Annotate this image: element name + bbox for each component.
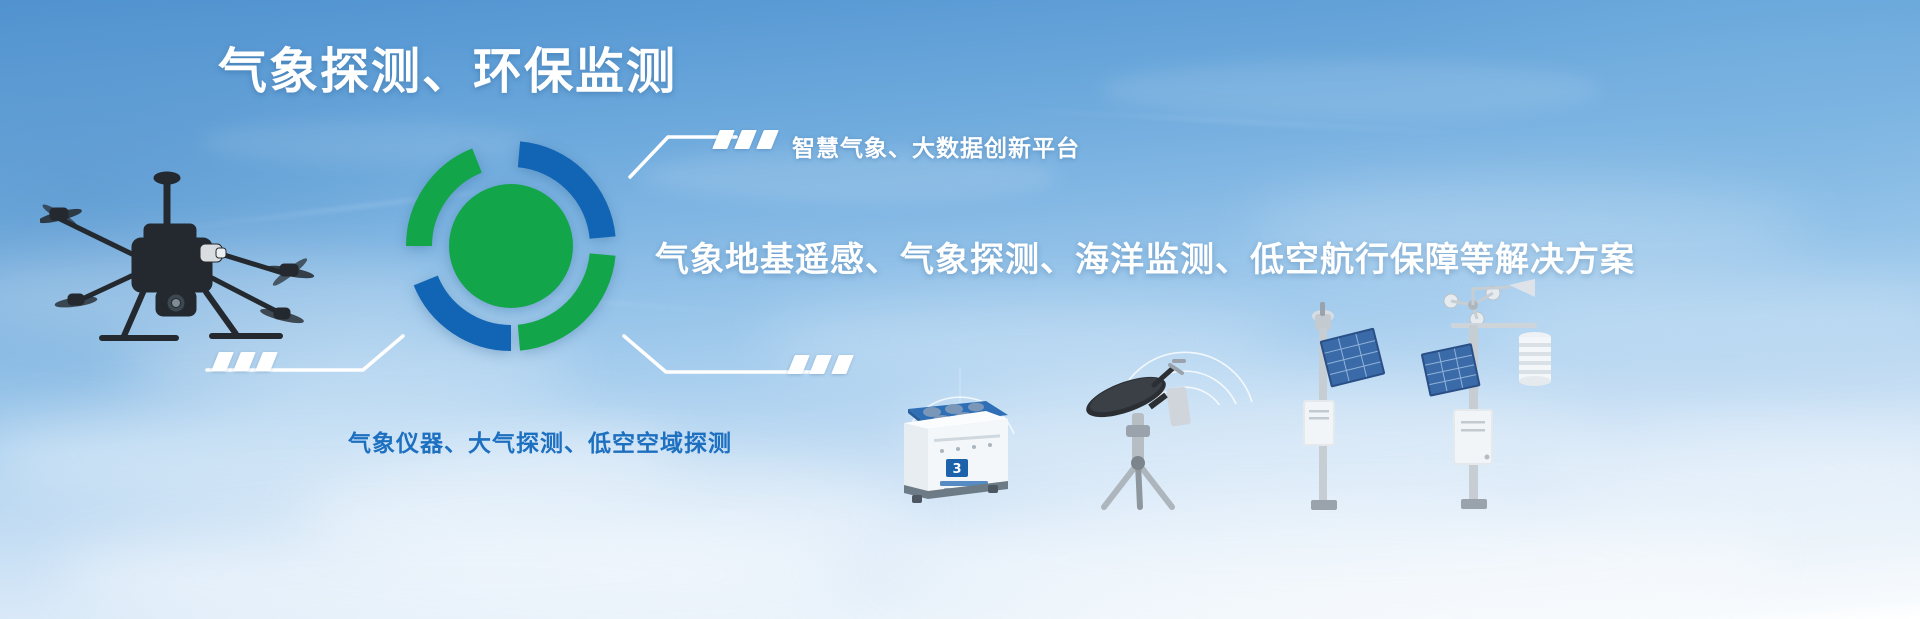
- slash-accent-top: [716, 130, 775, 149]
- slash-accent-bottom-right: [791, 355, 850, 374]
- label-instruments: 气象仪器、大气探测、低空空域探测: [348, 424, 732, 458]
- label-solutions: 气象地基遥感、气象探测、海洋监测、低空航行保障等解决方案: [655, 232, 1635, 281]
- svg-text:3: 3: [952, 462, 961, 477]
- label-smart-weather-platform: 智慧气象、大数据创新平台: [792, 129, 1080, 163]
- banner-root: 气象探测、环保监测 智慧气象、大数据创新平台 气象地基遥感、气象探测、海洋监测、…: [0, 0, 1920, 619]
- page-title: 气象探测、环保监测: [218, 48, 677, 97]
- donut-ring-diagram: [393, 128, 629, 364]
- slash-accent-bottom-left: [215, 352, 274, 371]
- weather-station-mast-icon: [1415, 275, 1565, 515]
- drone-icon: [40, 150, 320, 350]
- solar-panel-mast-icon: [1275, 300, 1385, 515]
- lidar-cabinet-icon: 3: [890, 385, 1020, 505]
- radar-dish-icon: [1070, 355, 1210, 510]
